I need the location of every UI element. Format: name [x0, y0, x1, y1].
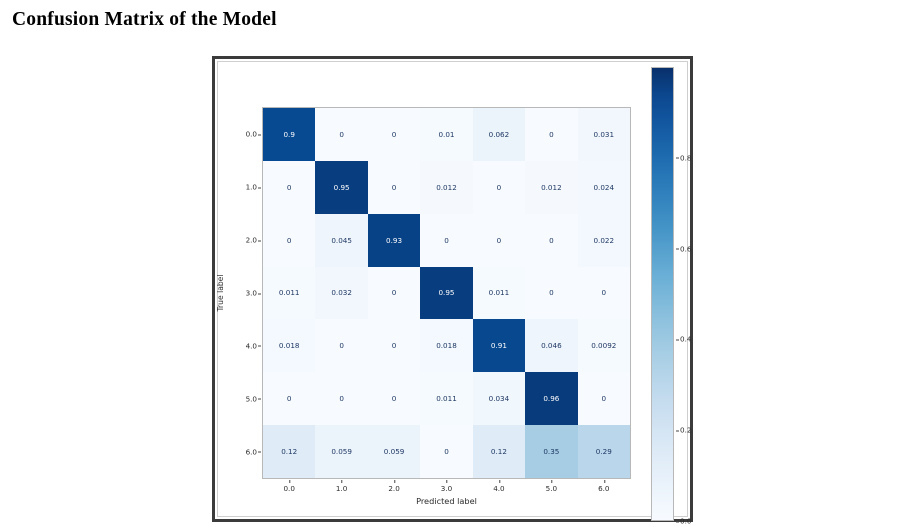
x-tick-label-1: 1.0	[336, 484, 347, 493]
y-tick-label-0: 0.0	[246, 130, 257, 139]
figure-panel: 0.9000.010.06200.03100.9500.01200.0120.0…	[212, 56, 693, 522]
heatmap-cell-value: 0	[339, 131, 344, 138]
heatmap-cell-value: 0.022	[593, 237, 614, 244]
heatmap-cell-value: 0	[339, 342, 344, 349]
heatmap-cell-value: 0.018	[436, 342, 457, 349]
heatmap-cell-r0-c2: 0	[368, 108, 420, 161]
heatmap-cell-value: 0.35	[543, 448, 559, 455]
colorbar-tick-label-4: 0.0	[680, 517, 691, 526]
heatmap-cell-r5-c0: 0	[263, 372, 315, 425]
heatmap-cell-r5-c4: 0.034	[473, 372, 525, 425]
colorbar-tick-label-0: 0.8	[680, 153, 691, 162]
y-tick-label-4: 4.0	[246, 341, 257, 350]
page-title: Confusion Matrix of the Model	[12, 9, 277, 31]
heatmap-cell-r2-c1: 0.045	[315, 214, 367, 267]
heatmap-cell-r5-c3: 0.011	[420, 372, 472, 425]
heatmap-cell-value: 0.034	[489, 395, 510, 402]
heatmap-cell-r4-c3: 0.018	[420, 319, 472, 372]
heatmap-cell-r2-c3: 0	[420, 214, 472, 267]
confusion-matrix-axes: 0.9000.010.06200.03100.9500.01200.0120.0…	[262, 107, 631, 479]
x-tick-label-2: 2.0	[388, 484, 399, 493]
y-tick-label-6: 6.0	[246, 447, 257, 456]
heatmap-cell-value: 0.031	[593, 131, 614, 138]
heatmap-cell-r2-c4: 0	[473, 214, 525, 267]
heatmap-cell-value: 0	[497, 237, 502, 244]
heatmap-cell-r5-c6: 0	[578, 372, 630, 425]
heatmap-cell-r0-c6: 0.031	[578, 108, 630, 161]
heatmap-cell-r4-c0: 0.018	[263, 319, 315, 372]
heatmap-cell-value: 0	[392, 395, 397, 402]
heatmap-cell-value: 0	[287, 395, 292, 402]
heatmap-cell-value: 0.059	[331, 448, 352, 455]
heatmap-cell-r4-c5: 0.046	[525, 319, 577, 372]
x-tick-label-0: 0.0	[283, 484, 294, 493]
heatmap-cell-value: 0.29	[596, 448, 612, 455]
heatmap-cell-value: 0.011	[489, 289, 510, 296]
heatmap-cell-value: 0.95	[334, 184, 350, 191]
heatmap-cell-value: 0.011	[436, 395, 457, 402]
x-tick-label-4: 4.0	[493, 484, 504, 493]
colorbar: 0.80.60.40.20.0	[651, 67, 674, 521]
heatmap-grid: 0.9000.010.06200.03100.9500.01200.0120.0…	[263, 108, 630, 478]
heatmap-cell-value: 0	[601, 395, 606, 402]
heatmap-cell-r5-c5: 0.96	[525, 372, 577, 425]
y-tick-label-3: 3.0	[246, 289, 257, 298]
heatmap-cell-r3-c2: 0	[368, 267, 420, 320]
colorbar-gradient	[651, 67, 674, 521]
figure-canvas: 0.9000.010.06200.03100.9500.01200.0120.0…	[217, 61, 688, 517]
heatmap-cell-value: 0	[549, 237, 554, 244]
colorbar-tick-label-1: 0.6	[680, 244, 691, 253]
heatmap-cell-r4-c6: 0.0092	[578, 319, 630, 372]
heatmap-cell-r1-c5: 0.012	[525, 161, 577, 214]
heatmap-cell-r4-c1: 0	[315, 319, 367, 372]
heatmap-cell-r6-c2: 0.059	[368, 425, 420, 478]
heatmap-cell-r3-c1: 0.032	[315, 267, 367, 320]
heatmap-cell-value: 0.045	[331, 237, 352, 244]
heatmap-cell-r6-c1: 0.059	[315, 425, 367, 478]
heatmap-cell-value: 0	[392, 131, 397, 138]
heatmap-cell-r5-c2: 0	[368, 372, 420, 425]
heatmap-cell-value: 0.93	[386, 237, 402, 244]
heatmap-cell-value: 0	[549, 289, 554, 296]
heatmap-cell-r2-c0: 0	[263, 214, 315, 267]
heatmap-cell-value: 0.011	[279, 289, 300, 296]
heatmap-cell-value: 0.96	[543, 395, 559, 402]
heatmap-cell-r6-c0: 0.12	[263, 425, 315, 478]
heatmap-cell-r3-c0: 0.011	[263, 267, 315, 320]
heatmap-cell-r1-c3: 0.012	[420, 161, 472, 214]
heatmap-cell-r1-c4: 0	[473, 161, 525, 214]
heatmap-cell-r0-c0: 0.9	[263, 108, 315, 161]
heatmap-cell-r0-c3: 0.01	[420, 108, 472, 161]
heatmap-cell-r3-c5: 0	[525, 267, 577, 320]
heatmap-cell-r3-c6: 0	[578, 267, 630, 320]
x-axis-label: Predicted label	[416, 496, 477, 506]
heatmap-cell-r0-c1: 0	[315, 108, 367, 161]
heatmap-cell-r6-c6: 0.29	[578, 425, 630, 478]
heatmap-cell-value: 0	[444, 448, 449, 455]
heatmap-cell-value: 0.95	[438, 289, 454, 296]
heatmap-cell-value: 0.032	[331, 289, 352, 296]
colorbar-tick-label-2: 0.4	[680, 335, 691, 344]
heatmap-cell-r2-c5: 0	[525, 214, 577, 267]
heatmap-cell-r2-c6: 0.022	[578, 214, 630, 267]
y-tick-label-1: 1.0	[246, 183, 257, 192]
heatmap-cell-value: 0.059	[384, 448, 405, 455]
x-tick-label-3: 3.0	[441, 484, 452, 493]
x-tick-label-5: 5.0	[546, 484, 557, 493]
heatmap-cell-r5-c1: 0	[315, 372, 367, 425]
heatmap-cell-value: 0	[444, 237, 449, 244]
heatmap-cell-value: 0.12	[491, 448, 507, 455]
heatmap-cell-r2-c2: 0.93	[368, 214, 420, 267]
heatmap-cell-value: 0.91	[491, 342, 507, 349]
heatmap-cell-value: 0.12	[281, 448, 297, 455]
heatmap-cell-r1-c1: 0.95	[315, 161, 367, 214]
heatmap-cell-r3-c3: 0.95	[420, 267, 472, 320]
heatmap-cell-value: 0.018	[279, 342, 300, 349]
heatmap-cell-r6-c4: 0.12	[473, 425, 525, 478]
heatmap-cell-value: 0.062	[489, 131, 510, 138]
heatmap-cell-r0-c5: 0	[525, 108, 577, 161]
heatmap-cell-r4-c2: 0	[368, 319, 420, 372]
heatmap-cell-value: 0.9	[283, 131, 294, 138]
y-tick-label-5: 5.0	[246, 394, 257, 403]
y-tick-label-2: 2.0	[246, 236, 257, 245]
heatmap-cell-r0-c4: 0.062	[473, 108, 525, 161]
heatmap-cell-value: 0	[339, 395, 344, 402]
heatmap-cell-value: 0.012	[541, 184, 562, 191]
heatmap-cell-r6-c3: 0	[420, 425, 472, 478]
heatmap-cell-value: 0	[287, 184, 292, 191]
x-tick-label-6: 6.0	[598, 484, 609, 493]
heatmap-cell-value: 0	[392, 289, 397, 296]
heatmap-cell-r4-c4: 0.91	[473, 319, 525, 372]
heatmap-cell-r3-c4: 0.011	[473, 267, 525, 320]
heatmap-cell-value: 0	[549, 131, 554, 138]
heatmap-cell-r1-c6: 0.024	[578, 161, 630, 214]
heatmap-cell-r1-c0: 0	[263, 161, 315, 214]
colorbar-tick-label-3: 0.2	[680, 426, 691, 435]
heatmap-cell-value: 0	[392, 184, 397, 191]
heatmap-cell-value: 0	[497, 184, 502, 191]
heatmap-cell-value: 0.024	[593, 184, 614, 191]
y-axis-label: True label	[216, 275, 225, 312]
heatmap-cell-value: 0.012	[436, 184, 457, 191]
heatmap-cell-value: 0.046	[541, 342, 562, 349]
heatmap-cell-value: 0	[601, 289, 606, 296]
heatmap-cell-r6-c5: 0.35	[525, 425, 577, 478]
heatmap-cell-value: 0.0092	[591, 342, 616, 349]
heatmap-cell-value: 0	[287, 237, 292, 244]
heatmap-cell-r1-c2: 0	[368, 161, 420, 214]
heatmap-cell-value: 0.01	[438, 131, 454, 138]
heatmap-cell-value: 0	[392, 342, 397, 349]
